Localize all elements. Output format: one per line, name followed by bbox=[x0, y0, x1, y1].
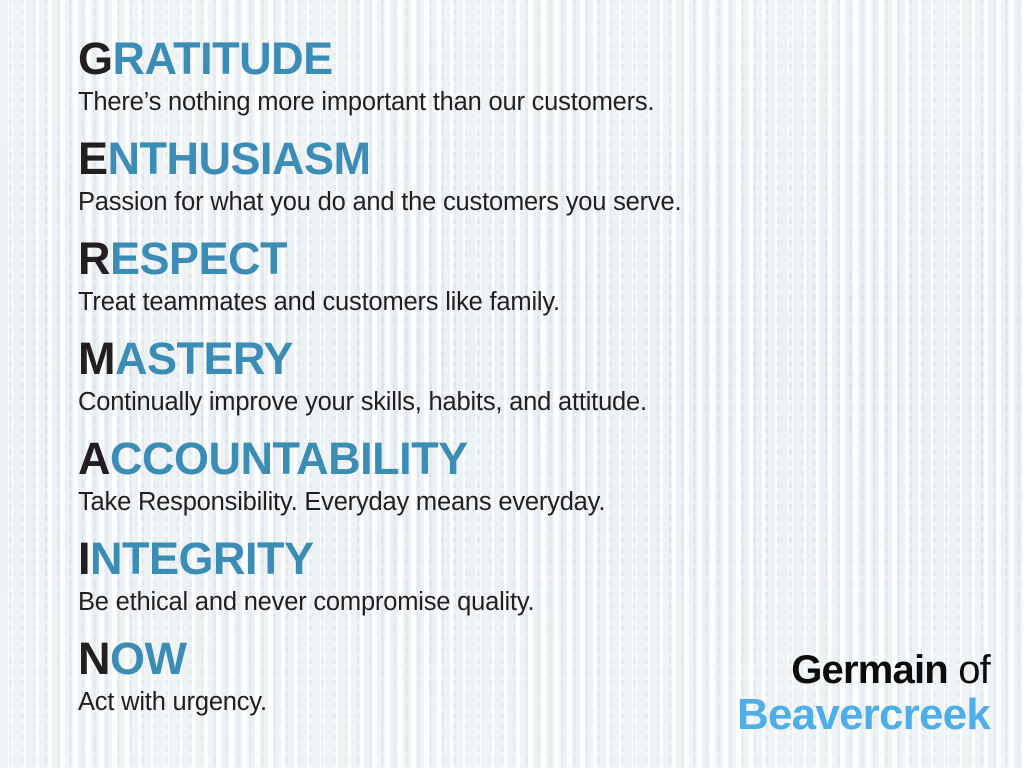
value-description-accountability: Take Responsibility. Everyday means ever… bbox=[78, 485, 1024, 519]
value-initial-letter: N bbox=[78, 633, 110, 684]
value-word-remainder: RATITUDE bbox=[113, 33, 333, 84]
logo-location-name: Beavercreek bbox=[737, 692, 990, 738]
value-initial-letter: I bbox=[78, 533, 90, 584]
value-heading-enthusiasm: ENTHUSIASM bbox=[78, 134, 1024, 184]
value-heading-gratitude: GRATITUDE bbox=[78, 34, 1024, 84]
value-word-remainder: OW bbox=[110, 633, 186, 684]
value-word-remainder: NTEGRITY bbox=[90, 533, 314, 584]
value-block-mastery: MASTERY Continually improve your skills,… bbox=[78, 334, 1024, 434]
value-word-remainder: CCOUNTABILITY bbox=[110, 433, 468, 484]
logo-connector-word: of bbox=[948, 648, 990, 692]
value-block-gratitude: GRATITUDE There’s nothing more important… bbox=[78, 34, 1024, 134]
value-word-remainder: NTHUSIASM bbox=[108, 133, 371, 184]
value-description-gratitude: There’s nothing more important than our … bbox=[78, 85, 1024, 119]
value-description-mastery: Continually improve your skills, habits,… bbox=[78, 385, 1024, 419]
value-description-enthusiasm: Passion for what you do and the customer… bbox=[78, 185, 1024, 219]
value-block-accountability: ACCOUNTABILITY Take Responsibility. Ever… bbox=[78, 434, 1024, 534]
value-word-remainder: ESPECT bbox=[110, 233, 287, 284]
value-initial-letter: E bbox=[78, 133, 108, 184]
value-description-integrity: Be ethical and never compromise quality. bbox=[78, 585, 1024, 619]
logo-line-primary: Germain of bbox=[737, 648, 990, 692]
value-initial-letter: G bbox=[78, 33, 113, 84]
value-initial-letter: A bbox=[78, 433, 110, 484]
value-heading-integrity: INTEGRITY bbox=[78, 534, 1024, 584]
value-description-respect: Treat teammates and customers like famil… bbox=[78, 285, 1024, 319]
value-initial-letter: M bbox=[78, 333, 115, 384]
value-heading-respect: RESPECT bbox=[78, 234, 1024, 284]
value-block-respect: RESPECT Treat teammates and customers li… bbox=[78, 234, 1024, 334]
value-heading-accountability: ACCOUNTABILITY bbox=[78, 434, 1024, 484]
value-heading-mastery: MASTERY bbox=[78, 334, 1024, 384]
value-initial-letter: R bbox=[78, 233, 110, 284]
value-word-remainder: ASTERY bbox=[115, 333, 293, 384]
value-block-integrity: INTEGRITY Be ethical and never compromis… bbox=[78, 534, 1024, 634]
company-logo: Germain of Beavercreek bbox=[737, 648, 990, 738]
value-block-enthusiasm: ENTHUSIASM Passion for what you do and t… bbox=[78, 134, 1024, 234]
logo-brand-name: Germain bbox=[791, 648, 948, 692]
